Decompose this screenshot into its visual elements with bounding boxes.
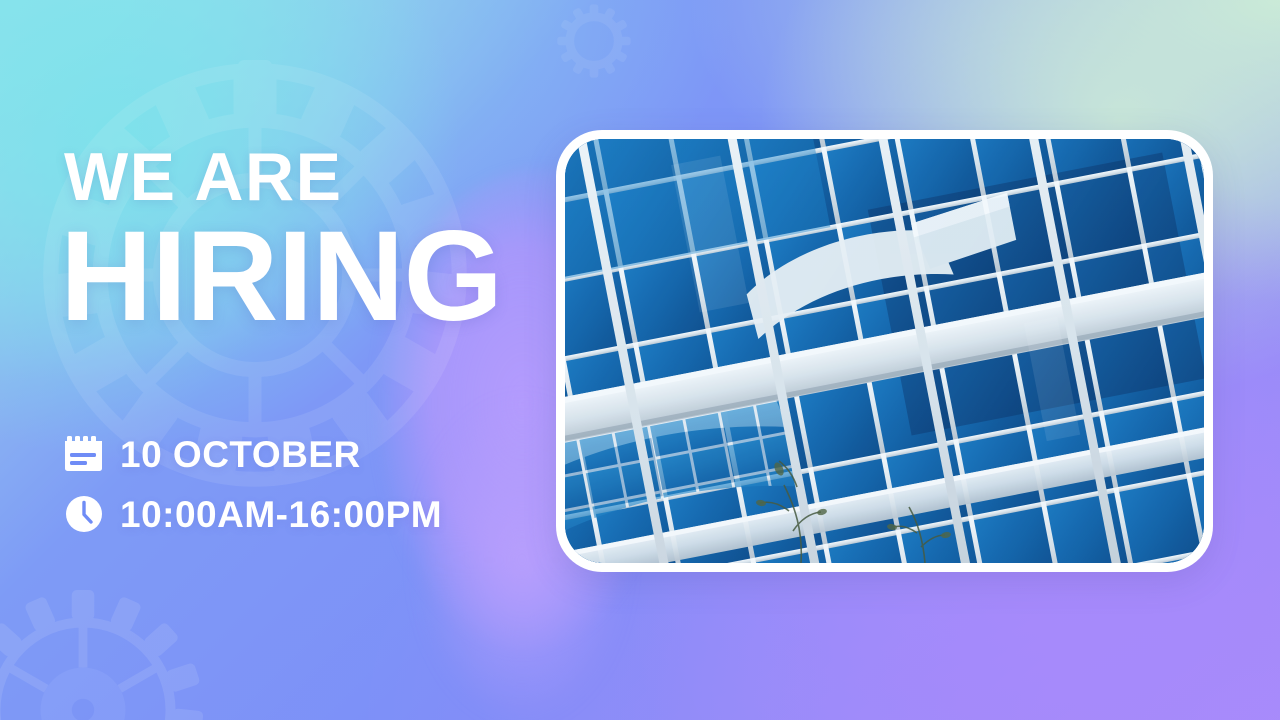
page-title-line2: HIRING xyxy=(60,213,502,341)
calendar-icon xyxy=(64,434,104,474)
page-title-line1: WE ARE xyxy=(64,143,342,211)
poster-content: WE ARE HIRING 10 OCTOBER xyxy=(64,0,584,720)
event-time-label: 10:00AM-16:00PM xyxy=(120,496,442,533)
office-building-photo-card xyxy=(556,130,1213,572)
event-date-label: 10 OCTOBER xyxy=(120,436,361,473)
event-time-row: 10:00AM-16:00PM xyxy=(64,484,442,544)
event-date-row: 10 OCTOBER xyxy=(64,424,442,484)
event-details-list: 10 OCTOBER 10:00AM-16:00PM xyxy=(64,424,442,544)
office-building-photo xyxy=(565,139,1204,563)
clock-icon xyxy=(64,494,104,534)
hiring-poster: WE ARE HIRING 10 OCTOBER xyxy=(0,0,1280,720)
